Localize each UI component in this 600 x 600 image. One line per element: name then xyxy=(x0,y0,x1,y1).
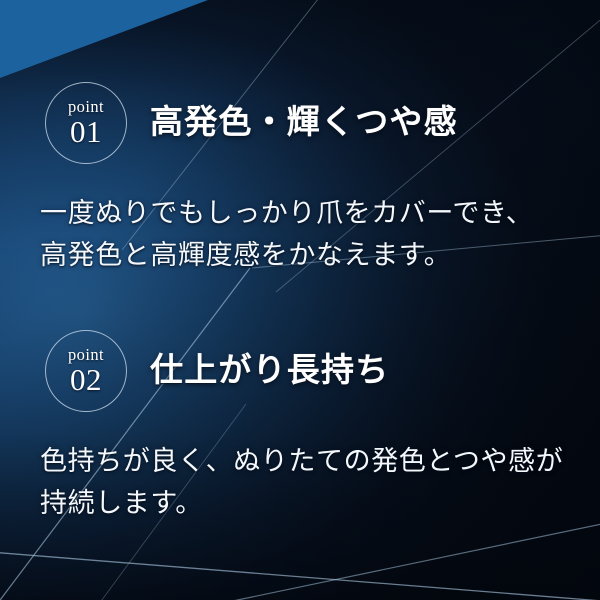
promo-banner: point 01 高発色・輝くつや感 一度ぬりでもしっかり爪をカバーでき、 高発… xyxy=(0,0,600,600)
point-01-body-line-2: 高発色と高輝度感をかなえます。 xyxy=(40,234,574,276)
point-01-heading: 高発色・輝くつや感 xyxy=(150,105,458,141)
point-02-body-line-2: 持続します。 xyxy=(40,482,574,524)
point-02-badge: point 02 xyxy=(45,330,127,412)
point-01-header-row: point 01 高発色・輝くつや感 xyxy=(0,82,600,164)
point-02-header-row: point 02 仕上がり長持ち xyxy=(0,330,600,412)
point-02-badge-word: point xyxy=(68,347,104,364)
point-01-badge-word: point xyxy=(68,99,104,116)
point-01-body-line-1: 一度ぬりでもしっかり爪をカバーでき、 xyxy=(40,192,574,234)
point-01-badge: point 01 xyxy=(45,82,127,164)
point-02-body: 色持ちが良く、ぬりたての発色とつや感が 持続します。 xyxy=(0,440,600,524)
content-area: point 01 高発色・輝くつや感 一度ぬりでもしっかり爪をカバーでき、 高発… xyxy=(0,0,600,600)
point-block-01: point 01 高発色・輝くつや感 一度ぬりでもしっかり爪をカバーでき、 高発… xyxy=(0,82,600,276)
point-01-badge-number: 01 xyxy=(70,116,102,147)
point-02-heading: 仕上がり長持ち xyxy=(150,353,389,389)
point-block-02: point 02 仕上がり長持ち 色持ちが良く、ぬりたての発色とつや感が 持続し… xyxy=(0,330,600,524)
point-02-body-line-1: 色持ちが良く、ぬりたての発色とつや感が xyxy=(40,440,574,482)
point-01-body: 一度ぬりでもしっかり爪をカバーでき、 高発色と高輝度感をかなえます。 xyxy=(0,192,600,276)
point-02-badge-number: 02 xyxy=(70,364,102,395)
